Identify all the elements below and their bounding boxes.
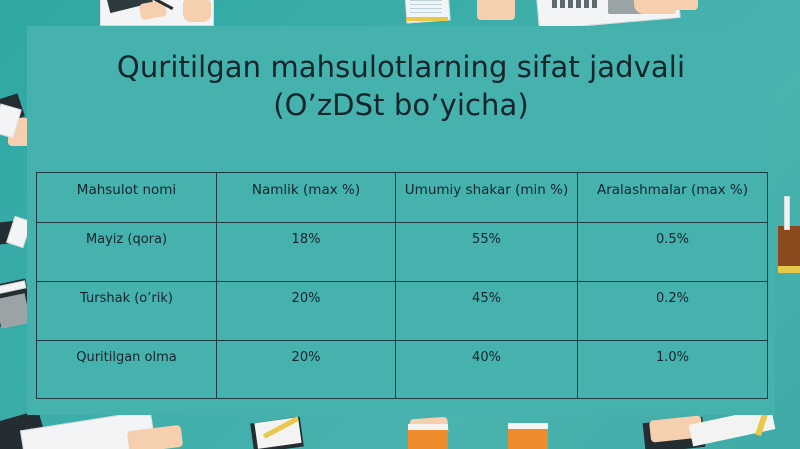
bottom-card-icon xyxy=(409,417,448,438)
cell-total-sugar: 55% xyxy=(396,223,578,282)
cell-total-sugar: 45% xyxy=(396,282,578,341)
top-blank-card-icon xyxy=(477,0,515,20)
top-left-paper-icon xyxy=(100,0,214,26)
cell-total-sugar: 40% xyxy=(396,341,578,399)
table-row: Turshak (o’rik) 20% 45% 0.2% xyxy=(37,282,768,341)
top-document-clip-icon xyxy=(406,17,448,21)
bottom-right-book-cover-icon xyxy=(649,415,703,442)
top-left-sleeve-icon xyxy=(107,0,153,13)
table-row: Mayiz (qora) 18% 55% 0.5% xyxy=(37,223,768,282)
cell-impurities: 0.2% xyxy=(578,282,768,341)
bottom-notebook-icon xyxy=(254,417,301,449)
bottom-card-cover-icon xyxy=(408,430,448,449)
left-sleeve-icon xyxy=(0,93,25,126)
bottom-notebook-pencil-icon xyxy=(263,416,299,438)
top-right-document-text-icon xyxy=(552,0,600,8)
right-book-pages-icon xyxy=(778,266,800,273)
cell-product-name: Turshak (o’rik) xyxy=(37,282,217,341)
content-card: Quritilgan mahsulotlarning sifat jadvali… xyxy=(27,26,775,415)
bottom-notebook-shadow-icon xyxy=(250,417,304,449)
top-left-hand-right-icon xyxy=(183,0,211,22)
bottom-card-page-icon xyxy=(408,424,448,432)
left-tablet-frame-icon xyxy=(0,280,26,295)
bottom-left-folder-icon xyxy=(0,410,47,449)
cell-moisture: 18% xyxy=(217,223,396,282)
right-book-icon xyxy=(778,226,800,272)
top-right-device-icon xyxy=(608,0,644,14)
quality-standards-table: Mahsulot nomi Namlik (max %) Umumiy shak… xyxy=(36,172,768,399)
page-title-line-1: Quritilgan mahsulotlarning sifat jadvali xyxy=(27,48,775,86)
cell-product-name: Mayiz (qora) xyxy=(37,223,217,282)
left-sleeve-lower-icon xyxy=(0,220,23,246)
top-document-lined-icon xyxy=(403,0,450,23)
left-paper-icon xyxy=(0,104,22,139)
right-book-bookmark-icon xyxy=(784,196,790,230)
table-row: Quritilgan olma 20% 40% 1.0% xyxy=(37,341,768,399)
bottom-right-book-shadow-icon xyxy=(643,417,706,449)
cell-impurities: 1.0% xyxy=(578,341,768,399)
column-header-product-name: Mahsulot nomi xyxy=(37,173,217,223)
bottom-book2-page-icon xyxy=(508,423,548,431)
cell-moisture: 20% xyxy=(217,341,396,399)
top-right-hand-icon xyxy=(634,0,676,14)
bottom-left-hand-icon xyxy=(127,425,183,449)
top-left-pen-icon xyxy=(153,0,174,10)
top-document-lines-icon xyxy=(410,0,442,14)
cell-moisture: 20% xyxy=(217,282,396,341)
column-header-total-sugar: Umumiy shakar (min %) xyxy=(396,173,578,223)
top-left-hand-icon xyxy=(139,0,167,20)
cell-product-name: Quritilgan olma xyxy=(37,341,217,399)
bottom-left-sheet-icon xyxy=(20,410,156,449)
page-title: Quritilgan mahsulotlarning sifat jadvali… xyxy=(27,48,775,124)
cell-impurities: 0.5% xyxy=(578,223,768,282)
column-header-moisture: Namlik (max %) xyxy=(217,173,396,223)
top-right-arm-icon xyxy=(672,0,698,10)
page-title-line-2: (O’zDSt bo’yicha) xyxy=(27,86,775,124)
column-header-impurities: Aralashmalar (max %) xyxy=(578,173,768,223)
table-header-row: Mahsulot nomi Namlik (max %) Umumiy shak… xyxy=(37,173,768,223)
bottom-book2-cover-icon xyxy=(508,429,548,449)
slide-canvas: Quritilgan mahsulotlarning sifat jadvali… xyxy=(0,0,800,449)
